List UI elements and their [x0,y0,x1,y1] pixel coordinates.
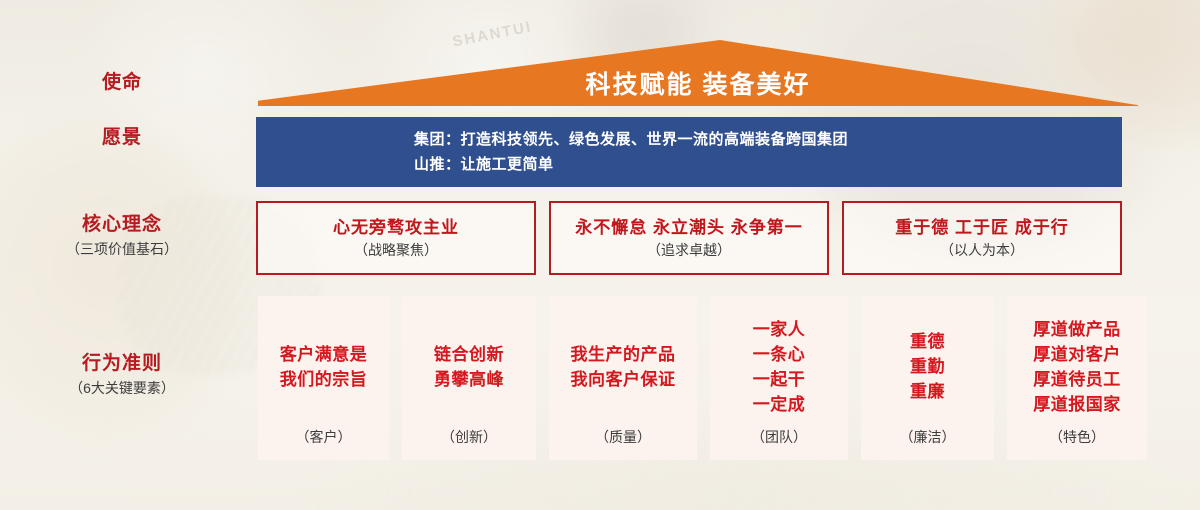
behavior-card-innovation: 链合创新 勇攀高峰 （创新） [402,296,536,460]
behavior-card-team-line-4: 一定成 [753,392,806,417]
behavior-card-character-line-3: 厚道待员工 [1033,367,1121,392]
behavior-card-innovation-tag: （创新） [441,427,497,460]
culture-pyramid-diagram: SHANTUI 使命 愿景 核心理念 （三项价值基石） 行为准则 （6大关键要素… [0,0,1200,510]
core-concept-row: 心无旁骛攻主业 （战略聚焦） 永不懈怠 永立潮头 永争第一 （追求卓越） 重于德… [256,201,1122,275]
row-label-core-title: 核心理念 [22,213,222,237]
core-concept-title-1: 心无旁骛攻主业 [333,217,459,239]
behavior-card-integrity-lines: 重德 重勤 重廉 [861,306,994,427]
behavior-card-character-line-2: 厚道对客户 [1033,342,1121,367]
behavior-card-character: 厚道做产品 厚道对客户 厚道待员工 厚道报国家 （特色） [1007,296,1147,460]
mission-text: 科技赋能 装备美好 [258,70,1138,100]
behavior-card-customer-lines: 客户满意是 我们的宗旨 [258,306,389,427]
background-shape-warm-left [0,120,240,450]
behavior-card-team: 一家人 一条心 一起干 一定成 （团队） [710,296,848,460]
row-label-mission: 使命 [22,71,222,95]
behavior-card-customer: 客户满意是 我们的宗旨 （客户） [258,296,389,460]
behavior-card-character-lines: 厚道做产品 厚道对客户 厚道待员工 厚道报国家 [1007,306,1147,427]
behavior-card-innovation-line-2: 勇攀高峰 [434,367,504,392]
behavior-card-character-line-4: 厚道报国家 [1033,392,1121,417]
core-concept-title-2: 永不懈怠 永立潮头 永争第一 [575,217,802,239]
mission-roof-banner: 科技赋能 装备美好 [258,40,1138,106]
behavior-card-integrity: 重德 重勤 重廉 （廉洁） [861,296,994,460]
behavior-card-team-line-3: 一起干 [753,367,806,392]
behavior-card-customer-tag: （客户） [296,427,352,460]
behavior-card-integrity-line-2: 重勤 [910,354,945,379]
behavior-card-quality-line-2: 我向客户保证 [571,367,676,392]
row-label-mission-title: 使命 [22,71,222,95]
core-concept-subtitle-2: （追求卓越） [647,240,731,260]
row-label-core-subtitle: （三项价值基石） [22,239,222,259]
behavior-card-innovation-line-1: 链合创新 [434,342,504,367]
behavior-card-integrity-line-3: 重廉 [910,379,945,404]
row-label-vision-title: 愿景 [22,126,222,150]
behavior-card-customer-line-1: 客户满意是 [280,342,368,367]
row-label-vision: 愿景 [22,126,222,150]
behavior-card-integrity-line-1: 重德 [910,329,945,354]
row-label-core-concept: 核心理念 （三项价值基石） [22,213,222,259]
behavior-card-team-line-1: 一家人 [753,317,806,342]
core-concept-subtitle-3: （以人为本） [940,240,1024,260]
behavior-card-integrity-tag: （廉洁） [900,427,956,460]
vision-line-group: 集团：打造科技领先、绿色发展、世界一流的高端装备跨国集团 [414,127,848,152]
core-concept-box-3: 重于德 工于匠 成于行 （以人为本） [842,201,1122,275]
core-concept-box-2: 永不懈怠 永立潮头 永争第一 （追求卓越） [549,201,829,275]
behavior-card-character-tag: （特色） [1049,427,1105,460]
row-label-behavior-code: 行为准则 （6大关键要素） [22,352,222,398]
core-concept-subtitle-1: （战略聚焦） [354,240,438,260]
row-label-behavior-subtitle: （6大关键要素） [22,378,222,398]
behavior-card-character-line-1: 厚道做产品 [1033,317,1121,342]
vision-line-shantui: 山推：让施工更简单 [414,152,848,177]
behavior-card-quality-tag: （质量） [595,427,651,460]
behavior-card-quality: 我生产的产品 我向客户保证 （质量） [549,296,697,460]
behavior-card-team-lines: 一家人 一条心 一起干 一定成 [710,306,848,427]
behavior-card-customer-line-2: 我们的宗旨 [280,367,368,392]
behavior-card-team-line-2: 一条心 [753,342,806,367]
behavior-card-quality-lines: 我生产的产品 我向客户保证 [549,306,697,427]
vision-text-block: 集团：打造科技领先、绿色发展、世界一流的高端装备跨国集团 山推：让施工更简单 [256,127,848,177]
behavior-card-team-tag: （团队） [751,427,807,460]
vision-bar: 集团：打造科技领先、绿色发展、世界一流的高端装备跨国集团 山推：让施工更简单 [256,117,1122,187]
row-label-behavior-title: 行为准则 [22,352,222,376]
behavior-card-quality-line-1: 我生产的产品 [571,342,676,367]
core-concept-box-1: 心无旁骛攻主业 （战略聚焦） [256,201,536,275]
core-concept-title-3: 重于德 工于匠 成于行 [895,217,1068,239]
behavior-card-row: 客户满意是 我们的宗旨 （客户） 链合创新 勇攀高峰 （创新） 我生产的产品 我… [258,296,1123,460]
behavior-card-innovation-lines: 链合创新 勇攀高峰 [402,306,536,427]
